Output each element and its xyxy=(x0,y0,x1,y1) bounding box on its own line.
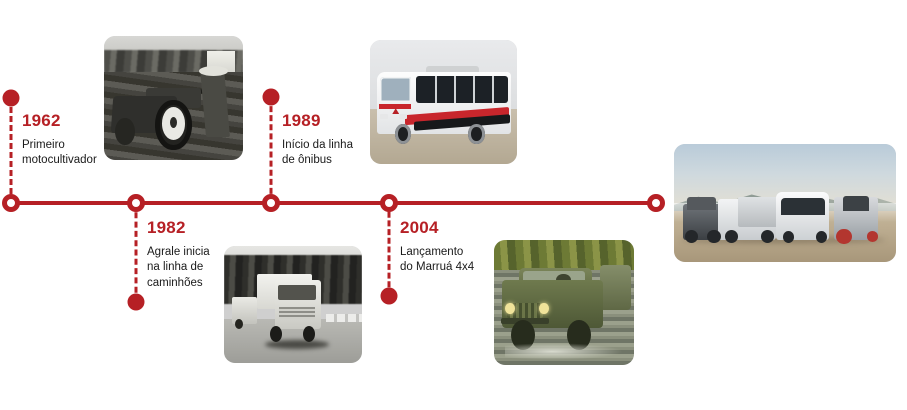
photo-lineup-content xyxy=(674,144,896,262)
photo-product-lineup xyxy=(674,144,896,262)
timeline-node-1982[interactable] xyxy=(127,194,145,212)
milestone-1962[interactable]: 1962 Primeiro motocultivador xyxy=(22,112,118,169)
timeline-infographic: 1962 Primeiro motocultivador 1982 Agrale… xyxy=(0,0,907,410)
milestone-1989-year: 1989 xyxy=(282,112,382,129)
milestone-1989-description: Início da linha de ônibus xyxy=(282,138,382,169)
timeline-node-end[interactable] xyxy=(647,194,665,212)
photo-1989-content xyxy=(370,40,517,164)
connector-2004 xyxy=(388,203,391,296)
milestone-1982[interactable]: 1982 Agrale inicia na linha de caminhões xyxy=(147,219,247,291)
connector-1982 xyxy=(135,203,138,302)
connector-dot-2004 xyxy=(381,288,398,305)
milestone-2004[interactable]: 2004 Lançamento do Marruá 4x4 xyxy=(400,219,508,276)
photo-1989-onibus xyxy=(370,40,517,164)
milestone-1982-year: 1982 xyxy=(147,219,247,236)
connector-dot-1962 xyxy=(3,90,20,107)
milestone-2004-description: Lançamento do Marruá 4x4 xyxy=(400,245,508,276)
timeline-node-1962[interactable] xyxy=(2,194,20,212)
photo-1962-content xyxy=(104,36,243,160)
milestone-1982-description: Agrale inicia na linha de caminhões xyxy=(147,245,247,291)
connector-1962 xyxy=(10,98,13,203)
connector-dot-1989 xyxy=(263,89,280,106)
connector-1989 xyxy=(270,97,273,203)
milestone-2004-year: 2004 xyxy=(400,219,508,236)
photo-2004-marrua xyxy=(494,240,634,365)
timeline-node-2004[interactable] xyxy=(380,194,398,212)
milestone-1989[interactable]: 1989 Início da linha de ônibus xyxy=(282,112,382,169)
photo-1962-motocultivador xyxy=(104,36,243,160)
milestone-1962-year: 1962 xyxy=(22,112,118,129)
connector-dot-1982 xyxy=(128,294,145,311)
photo-2004-content xyxy=(494,240,634,365)
milestone-1962-description: Primeiro motocultivador xyxy=(22,138,118,169)
timeline-node-1989[interactable] xyxy=(262,194,280,212)
timeline-axis xyxy=(11,201,656,205)
